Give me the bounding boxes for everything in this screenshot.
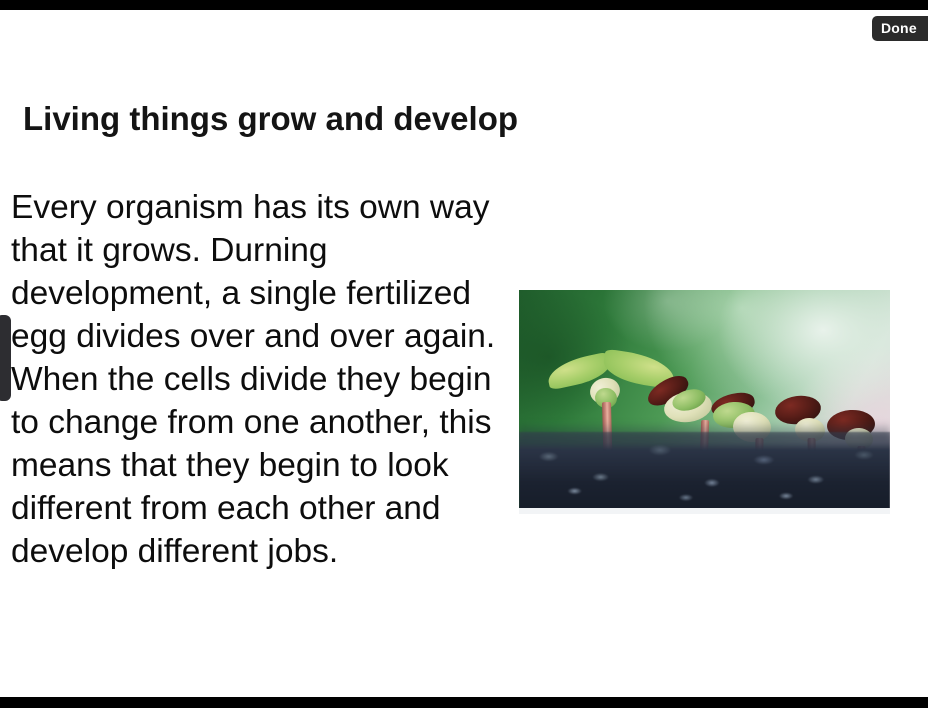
seedling-growth-image xyxy=(519,290,890,514)
soil-ground xyxy=(519,432,890,514)
slide-body-text: Every organism has its own way that it g… xyxy=(11,186,511,573)
photo-bottom-edge xyxy=(519,508,890,514)
window-bottom-bar xyxy=(0,697,928,708)
page-title: Living things grow and develop xyxy=(23,100,823,138)
slide-surface: Living things grow and develop Every org… xyxy=(0,10,928,697)
done-button[interactable]: Done xyxy=(872,16,928,41)
vertical-scroll-handle[interactable] xyxy=(0,315,11,401)
window-top-bar xyxy=(0,0,928,10)
